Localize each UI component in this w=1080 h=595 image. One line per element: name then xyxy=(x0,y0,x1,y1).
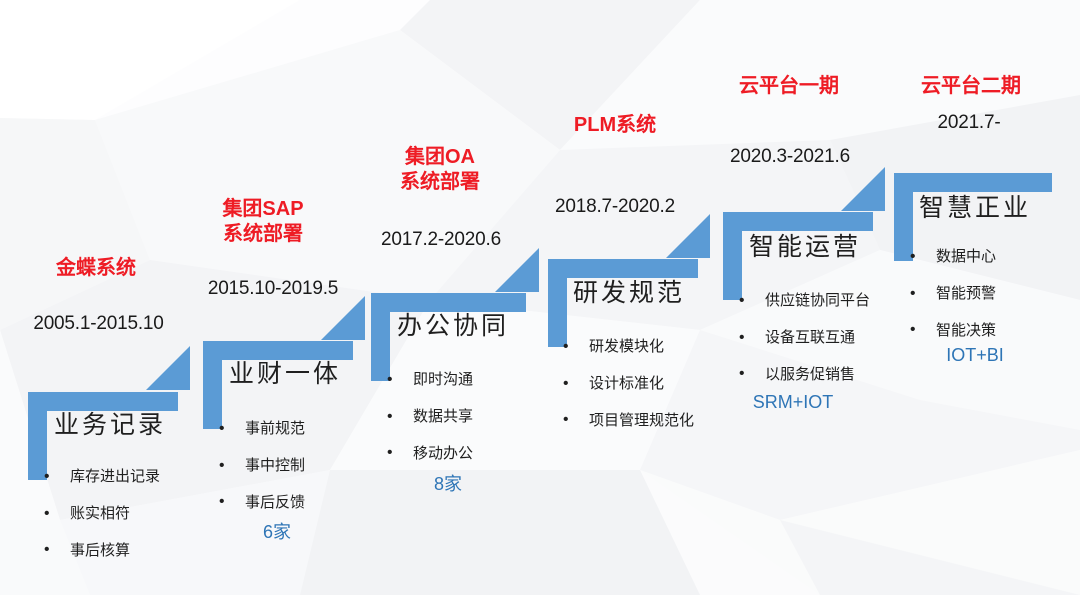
step-5-heading: 智能运营 xyxy=(749,227,861,263)
step-2-heading: 业财一体 xyxy=(229,354,341,390)
step-4-heading: 研发规范 xyxy=(573,273,685,309)
step-6-bullets: 数据中心 智能预警 智能决策 xyxy=(910,239,996,349)
step-5-date: 2020.3-2021.6 xyxy=(700,146,880,168)
step-3-bullets: 即时沟通 数据共享 移动办公 xyxy=(387,362,473,472)
list-item: 研发模块化 xyxy=(563,329,694,366)
step-6-red-title: 云平台二期 xyxy=(890,74,1052,99)
step-1-date: 2005.1-2015.10 xyxy=(6,313,191,335)
step-5-red-title: 云平台一期 xyxy=(708,74,870,99)
list-item: 事后核算 xyxy=(44,533,160,570)
step-3-heading: 办公协同 xyxy=(397,306,509,342)
step-2-foot-tag: 6家 xyxy=(222,518,332,544)
step-2-red-title-line-1: 集团SAP xyxy=(183,197,343,222)
step-2-arrow-triangle xyxy=(321,296,365,340)
step-5-red-title-line-1: 云平台一期 xyxy=(708,74,870,99)
step-4-red-title-line-1: PLM系统 xyxy=(535,113,695,138)
list-item: 设计标准化 xyxy=(563,366,694,403)
step-6-date: 2021.7- xyxy=(889,112,1049,134)
step-2-red-title: 集团SAP 系统部署 xyxy=(183,197,343,247)
step-3-arrow-triangle xyxy=(495,248,539,292)
step-3-red-title: 集团OA 系统部署 xyxy=(358,145,522,195)
step-6-foot-tag: IOT+BI xyxy=(900,345,1050,366)
list-item: 设备互联互通 xyxy=(739,320,870,357)
step-4-red-title: PLM系统 xyxy=(535,113,695,138)
list-item: 移动办公 xyxy=(387,436,473,473)
list-item: 智能预警 xyxy=(910,276,996,313)
step-5-bullets: 供应链协同平台 设备互联互通 以服务促销售 xyxy=(739,283,870,393)
list-item: 事后反馈 xyxy=(219,485,305,522)
list-item: 智能决策 xyxy=(910,313,996,350)
step-2-red-title-line-2: 系统部署 xyxy=(183,222,343,247)
step-2-bullets: 事前规范 事中控制 事后反馈 xyxy=(219,411,305,521)
list-item: 数据中心 xyxy=(910,239,996,276)
step-6-red-title-line-1: 云平台二期 xyxy=(890,74,1052,99)
step-1-bullets: 库存进出记录 账实相符 事后核算 xyxy=(44,459,160,569)
step-5-foot-tag: SRM+IOT xyxy=(723,392,863,413)
step-6-heading: 智慧正业 xyxy=(919,188,1031,224)
step-3-red-title-line-2: 系统部署 xyxy=(358,170,522,195)
list-item: 事中控制 xyxy=(219,448,305,485)
step-3-foot-tag: 8家 xyxy=(393,470,503,496)
step-4-bullets: 研发模块化 设计标准化 项目管理规范化 xyxy=(563,329,694,439)
list-item: 供应链协同平台 xyxy=(739,283,870,320)
step-1-red-title-line-1: 金蝶系统 xyxy=(16,256,176,281)
list-item: 即时沟通 xyxy=(387,362,473,399)
list-item: 项目管理规范化 xyxy=(563,403,694,440)
list-item: 库存进出记录 xyxy=(44,459,160,496)
step-3-date: 2017.2-2020.6 xyxy=(352,229,530,251)
list-item: 数据共享 xyxy=(387,399,473,436)
slide-canvas: 金蝶系统 2005.1-2015.10 业务记录 库存进出记录 账实相符 事后核… xyxy=(0,0,1080,595)
list-item: 以服务促销售 xyxy=(739,357,870,394)
step-3-red-title-line-1: 集团OA xyxy=(358,145,522,170)
step-1-heading: 业务记录 xyxy=(54,405,166,441)
list-item: 事前规范 xyxy=(219,411,305,448)
step-4-arrow-triangle xyxy=(666,214,710,258)
step-4-date: 2018.7-2020.2 xyxy=(525,196,705,218)
step-1-red-title: 金蝶系统 xyxy=(16,256,176,281)
step-1-arrow-triangle xyxy=(146,346,190,390)
step-2-date: 2015.10-2019.5 xyxy=(178,278,368,300)
step-5-arrow-triangle xyxy=(841,167,885,211)
list-item: 账实相符 xyxy=(44,496,160,533)
